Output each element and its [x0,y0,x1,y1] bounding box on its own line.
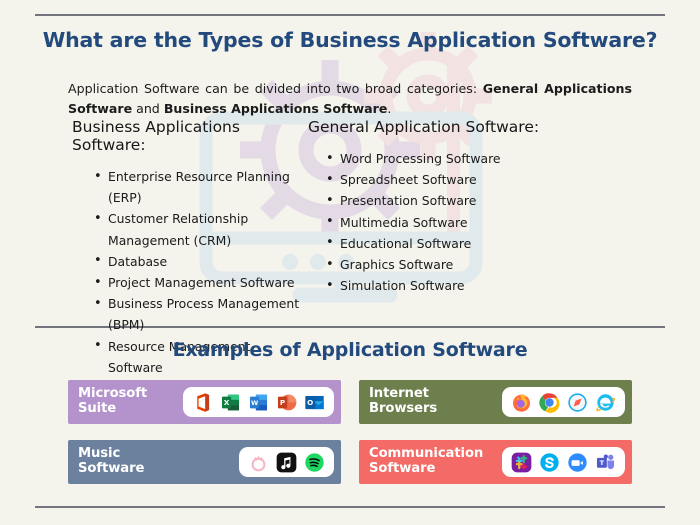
intro-text-2: and [132,101,164,116]
list-item: Enterprise Resource Planning (ERP) [94,166,308,208]
card-communication-software[interactable]: Communication Software [359,440,632,484]
card-row-1: Microsoft Suite X [0,380,700,424]
examples-section-title: Examples of Application Software [0,339,700,361]
microsoft-outlook-icon: O [304,392,325,413]
svg-text:P: P [280,398,285,407]
card-label: Internet Browsers [369,387,437,416]
card-label: Music Software [78,447,144,476]
column-heading-business: Business Applications Software: [68,118,308,154]
microsoft-excel-icon: X [220,392,241,413]
resso-icon [248,452,269,473]
slack-icon [511,452,532,473]
safari-icon [567,392,588,413]
svg-text:W: W [251,399,259,407]
icon-group-microsoft: X W P [183,387,334,417]
general-applications-list: Word Processing Software Spreadsheet Sof… [308,148,700,296]
list-item: Customer Relationship Management (CRM) [94,208,308,250]
divider-top [35,14,665,16]
svg-text:T: T [600,459,605,467]
page-title: What are the Types of Business Applicati… [0,28,700,52]
intro-text-3: . [387,101,391,116]
card-label: Microsoft Suite [78,387,147,416]
card-internet-browsers[interactable]: Internet Browsers [359,380,632,424]
microsoft-powerpoint-icon: P [276,392,297,413]
icon-group-music [239,447,334,477]
microsoft-office-icon [192,392,213,413]
list-item: Simulation Software [326,275,700,296]
internet-explorer-icon [595,392,616,413]
card-microsoft-suite[interactable]: Microsoft Suite X [68,380,341,424]
intro-bold-business: Business Applications Software [164,101,388,116]
list-item: Spreadsheet Software [326,169,700,190]
list-item: Graphics Software [326,254,700,275]
list-item: Word Processing Software [326,148,700,169]
svg-text:O: O [307,398,313,407]
list-item: Business Process Management (BPM) [94,293,308,335]
apple-music-icon [276,452,297,473]
card-label: Communication Software [369,447,483,476]
list-item: Multimedia Software [326,212,700,233]
intro-text-1: Application Software can be divided into… [68,81,483,96]
card-music-software[interactable]: Music Software [68,440,341,484]
example-cards: Microsoft Suite X [0,380,700,484]
microsoft-teams-icon: T [595,452,616,473]
card-row-2: Music Software [0,440,700,484]
firefox-icon [511,392,532,413]
spotify-icon [304,452,325,473]
icon-group-browsers [502,387,625,417]
divider-bottom [35,506,665,508]
infographic-page: What are the Types of Business Applicati… [0,0,700,525]
intro-paragraph: Application Software can be divided into… [68,79,632,119]
svg-text:X: X [224,398,230,407]
list-item: Project Management Software [94,272,308,293]
google-chrome-icon [539,392,560,413]
column-heading-general: General Application Software: [308,118,700,136]
list-item: Educational Software [326,233,700,254]
microsoft-word-icon: W [248,392,269,413]
list-item: Database [94,251,308,272]
icon-group-communication: T [502,447,625,477]
list-item: Presentation Software [326,190,700,211]
zoom-icon [567,452,588,473]
skype-icon [539,452,560,473]
